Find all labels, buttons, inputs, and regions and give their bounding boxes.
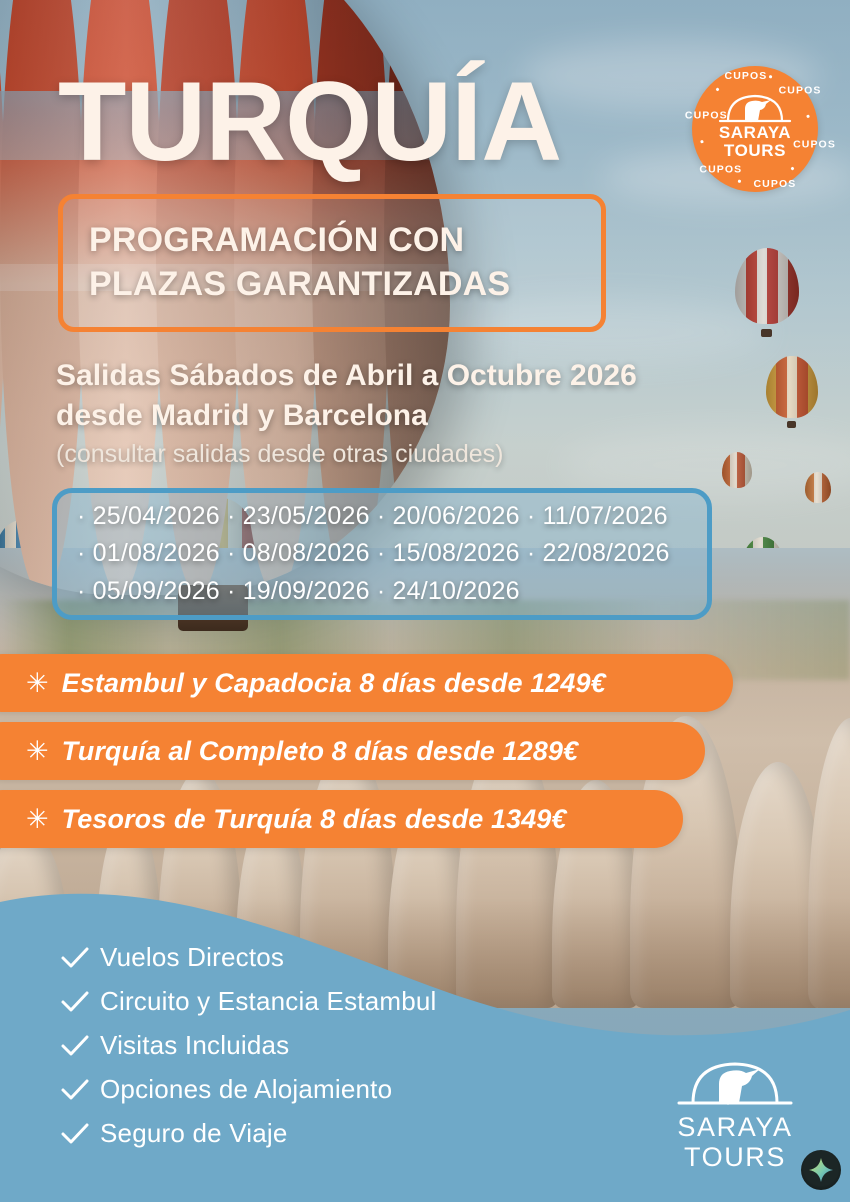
cupos-badge: CUPOS CUPOS CUPOS CUPOS CUPOS CUPOS — [692, 66, 818, 192]
list-item: Seguro de Viaje — [60, 1112, 437, 1155]
feature-label: Circuito y Estancia Estambul — [100, 986, 437, 1017]
offer-label-1: Estambul y Capadocia 8 días desde 1249€ — [62, 668, 606, 699]
feature-label: Seguro de Viaje — [100, 1118, 288, 1149]
departures-line-2: desde Madrid y Barcelona — [56, 396, 637, 436]
badge-brand-line2: TOURS — [724, 142, 786, 160]
footer-logo-line2: TOURS — [660, 1142, 810, 1172]
watermark-badge — [801, 1150, 841, 1190]
poster-content: TURQUÍA CUPOS CUPOS CUPOS CUPOS CUPOS CU… — [0, 0, 850, 1202]
starburst-icon: ✳ — [26, 670, 49, 697]
badge-logo: SARAYA TOURS — [692, 90, 818, 160]
camel-arch-icon — [677, 1055, 793, 1107]
departures-line-1: Salidas Sábados de Abril a Octubre 2026 — [56, 356, 637, 396]
four-point-star-icon — [808, 1157, 834, 1183]
offer-bar-3[interactable]: ✳ Tesoros de Turquía 8 días desde 1349€ — [0, 790, 683, 848]
departure-dates-box: · 25/04/2026 · 23/05/2026 · 20/06/2026 ·… — [52, 488, 712, 620]
page-title: TURQUÍA — [58, 66, 561, 178]
offer-label-2: Turquía al Completo 8 días desde 1289€ — [62, 736, 578, 767]
list-item: Circuito y Estancia Estambul — [60, 980, 437, 1023]
starburst-icon: ✳ — [26, 738, 49, 765]
feature-label: Opciones de Alojamiento — [100, 1074, 392, 1105]
guarantee-line-1: PROGRAMACIÓN CON — [89, 219, 601, 263]
departures-block: Salidas Sábados de Abril a Octubre 2026 … — [56, 356, 637, 472]
check-icon — [60, 990, 100, 1014]
footer-logo-line1: SARAYA — [660, 1112, 810, 1142]
dates-row: · 25/04/2026 · 23/05/2026 · 20/06/2026 ·… — [77, 498, 707, 536]
check-icon — [60, 1034, 100, 1058]
check-icon — [60, 946, 100, 970]
starburst-icon: ✳ — [26, 806, 49, 833]
list-item: Visitas Incluidas — [60, 1024, 437, 1067]
features-list: Vuelos Directos Circuito y Estancia Esta… — [60, 936, 437, 1156]
guarantee-line-2: PLAZAS GARANTIZADAS — [89, 263, 601, 307]
badge-brand-line1: SARAYA — [719, 124, 791, 142]
offer-bar-1[interactable]: ✳ Estambul y Capadocia 8 días desde 1249… — [0, 654, 733, 712]
feature-label: Vuelos Directos — [100, 942, 284, 973]
camel-arch-icon — [718, 90, 792, 124]
offer-label-3: Tesoros de Turquía 8 días desde 1349€ — [62, 804, 567, 835]
dates-row: · 01/08/2026 · 08/08/2026 · 15/08/2026 ·… — [77, 535, 707, 573]
list-item: Vuelos Directos — [60, 936, 437, 979]
poster-canvas: TURQUÍA CUPOS CUPOS CUPOS CUPOS CUPOS CU… — [0, 0, 850, 1202]
check-icon — [60, 1078, 100, 1102]
guarantee-box: PROGRAMACIÓN CON PLAZAS GARANTIZADAS — [58, 194, 606, 332]
departures-note: (consultar salidas desde otras ciudades) — [56, 437, 637, 472]
footer-logo: SARAYA TOURS — [660, 1055, 810, 1172]
check-icon — [60, 1122, 100, 1146]
offer-bar-2[interactable]: ✳ Turquía al Completo 8 días desde 1289€ — [0, 722, 705, 780]
dates-row: · 05/09/2026 · 19/09/2026 · 24/10/2026 — [77, 573, 707, 611]
list-item: Opciones de Alojamiento — [60, 1068, 437, 1111]
feature-label: Visitas Incluidas — [100, 1030, 289, 1061]
